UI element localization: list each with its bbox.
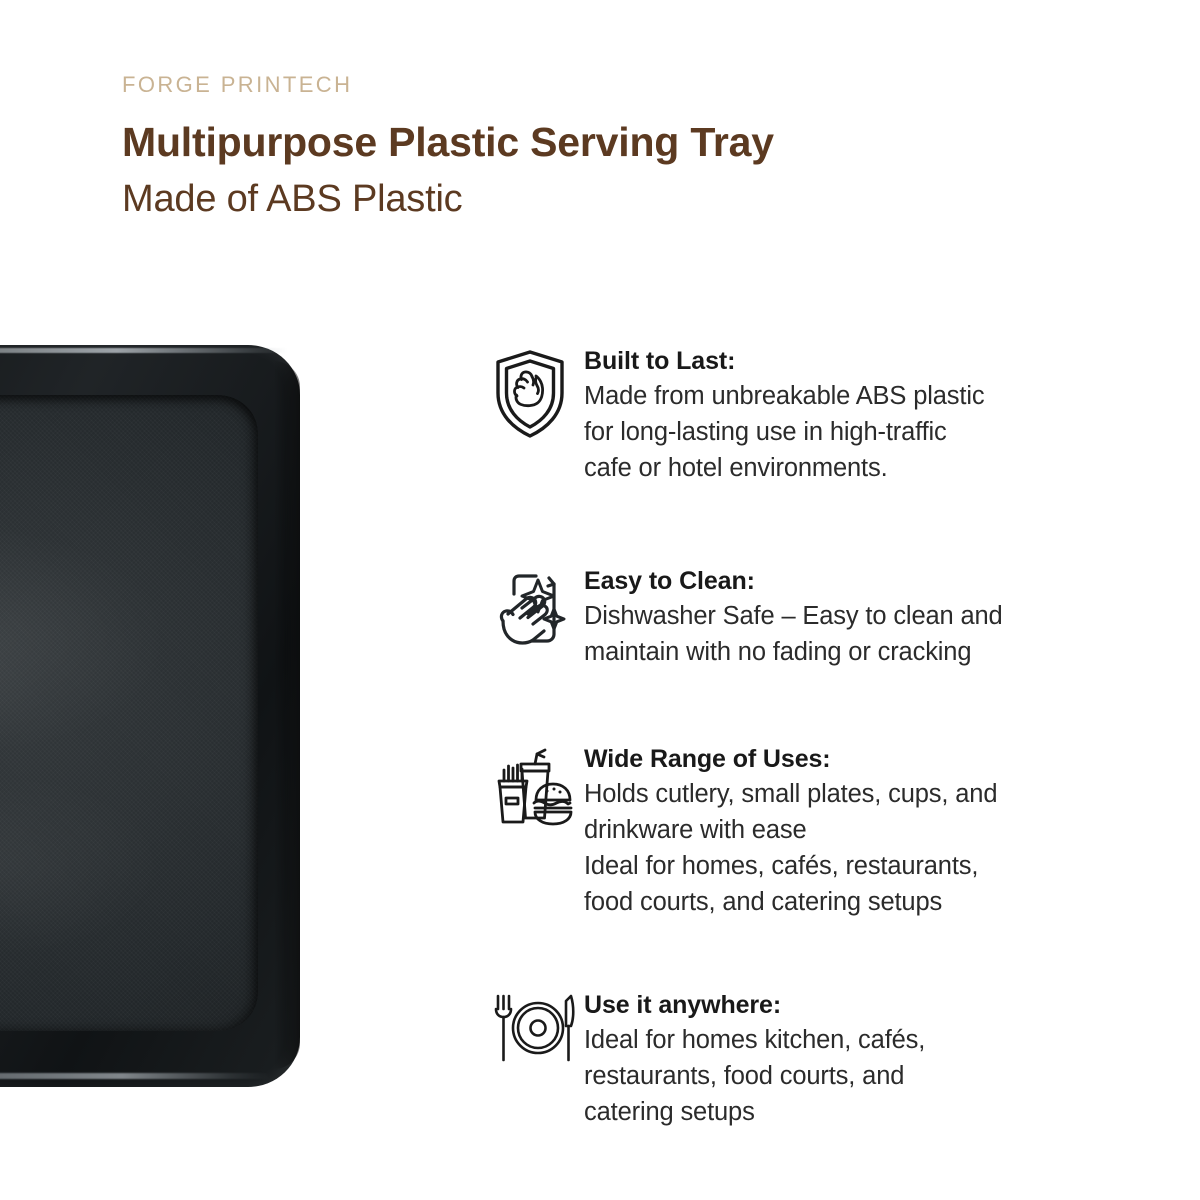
feature-text: Wide Range of Uses: Holds cutlery, small… [584,742,1112,920]
plate-fork-knife-icon [492,988,584,1064]
brand-label: FORGE PRINTECH [122,70,1022,100]
fast-food-meal-icon [492,742,584,832]
feature-text: Use it anywhere: Ideal for homes kitchen… [584,988,1112,1130]
feature-line: Ideal for homes kitchen, cafés, [584,1022,1112,1058]
feature-line: catering setups [584,1094,1112,1130]
tray-bottom-rim-highlight [0,1073,270,1079]
feature-line: Ideal for homes, cafés, restaurants, [584,848,1112,884]
shield-fist-icon [492,344,584,440]
tray-right-edge-shadow [274,361,300,1069]
feature-line: for long-lasting use in high-traffic [584,414,1112,450]
feature-item-easy-to-clean: Easy to Clean: Dishwasher Safe – Easy to… [492,564,1112,670]
product-infographic-page: FORGE PRINTECH Multipurpose Plastic Serv… [0,0,1200,1200]
tray-inner-surface [0,395,258,1031]
page-subtitle: Made of ABS Plastic [122,172,1022,226]
feature-line: maintain with no fading or cracking [584,634,1112,670]
feature-heading: Wide Range of Uses: [584,743,1112,776]
hand-sparkle-clean-icon [492,564,584,652]
feature-item-wide-range-of-uses: Wide Range of Uses: Holds cutlery, small… [492,742,1112,920]
page-title: Multipurpose Plastic Serving Tray [122,114,1022,170]
header: FORGE PRINTECH Multipurpose Plastic Serv… [122,70,1022,226]
feature-line: Dishwasher Safe – Easy to clean and [584,598,1112,634]
feature-text: Easy to Clean: Dishwasher Safe – Easy to… [584,564,1112,670]
feature-line: Holds cutlery, small plates, cups, and [584,776,1112,812]
feature-line: restaurants, food courts, and [584,1058,1112,1094]
feature-heading: Built to Last: [584,345,1112,378]
tray-body [0,345,300,1087]
tray-top-rim-highlight [0,348,288,353]
feature-text: Built to Last: Made from unbreakable ABS… [584,344,1112,486]
feature-list: Built to Last: Made from unbreakable ABS… [492,344,1112,1130]
feature-line: drinkware with ease [584,812,1112,848]
feature-line: food courts, and catering setups [584,884,1112,920]
feature-item-use-it-anywhere: Use it anywhere: Ideal for homes kitchen… [492,988,1112,1130]
feature-line: cafe or hotel environments. [584,450,1112,486]
product-image-serving-tray [0,345,300,1087]
feature-heading: Easy to Clean: [584,565,1112,598]
feature-heading: Use it anywhere: [584,989,1112,1022]
feature-line: Made from unbreakable ABS plastic [584,378,1112,414]
feature-item-built-to-last: Built to Last: Made from unbreakable ABS… [492,344,1112,486]
